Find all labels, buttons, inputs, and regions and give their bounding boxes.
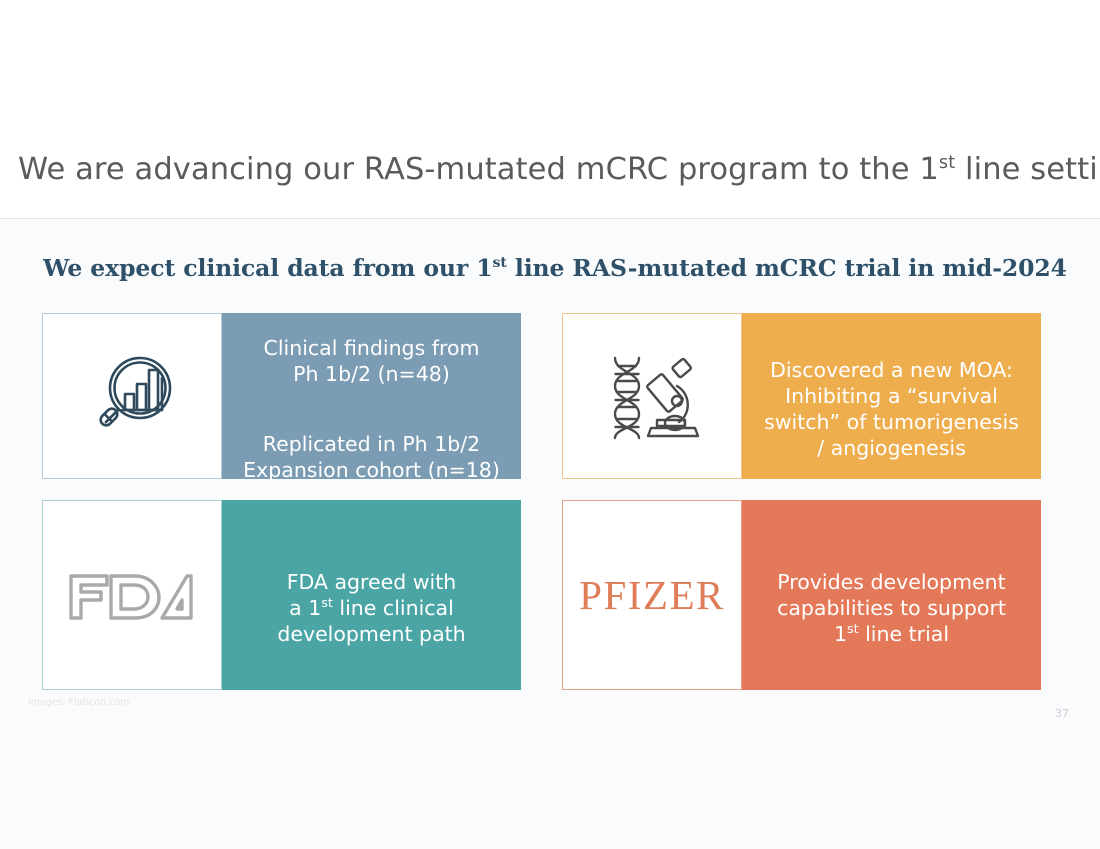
page-title: We are advancing our RAS-mutated mCRC pr…: [18, 152, 1100, 187]
card-pfizer-partnership: PFIZER Provides development capabilities…: [562, 500, 1041, 690]
card-line: Replicated in Ph 1b/2 Expansion cohort (…: [243, 405, 500, 484]
section-subtitle-text: We expect clinical data from our 1: [43, 254, 493, 282]
slide-body: We expect clinical data from our 1st lin…: [0, 219, 1100, 849]
card-line-text: Discovered a new MOA: Inhibiting a “surv…: [764, 358, 1019, 461]
page-title-text-end: line setting: [955, 152, 1100, 187]
card-line-text: Replicated in Ph 1b/2 Expansion cohort (…: [243, 432, 500, 482]
card-fda-agreement: FDA agreed with a 1st line clinical deve…: [42, 500, 521, 690]
card-clinical-findings: Clinical findings from Ph 1b/2 (n=48) Re…: [42, 313, 521, 479]
section-subtitle: We expect clinical data from our 1st lin…: [43, 254, 1063, 282]
dna-microscope-icon: [599, 348, 705, 444]
page-title-superscript: st: [939, 153, 955, 173]
card-line-superscript: st: [847, 621, 859, 636]
card-line-text: Clinical findings from Ph 1b/2 (n=48): [264, 336, 480, 386]
image-credit: images: Flaticon.com: [28, 697, 129, 708]
text-panel-clinical-findings: Clinical findings from Ph 1b/2 (n=48) Re…: [222, 313, 521, 479]
icon-box-new-moa: [562, 313, 742, 479]
page-number: 37: [1055, 707, 1069, 720]
card-line: Provides development capabilities to sup…: [777, 543, 1006, 648]
section-subtitle-text-end: line RAS-mutated mCRC trial in mid-2024: [507, 254, 1067, 282]
card-line: FDA agreed with a 1st line clinical deve…: [277, 543, 465, 648]
fda-logo: [67, 566, 197, 624]
icon-box-fda: [42, 500, 222, 690]
card-line: Discovered a new MOA: Inhibiting a “surv…: [764, 330, 1019, 461]
card-new-moa: Discovered a new MOA: Inhibiting a “surv…: [562, 313, 1041, 479]
text-panel-new-moa: Discovered a new MOA: Inhibiting a “surv…: [742, 313, 1041, 479]
card-line: Clinical findings from Ph 1b/2 (n=48): [264, 308, 480, 387]
text-panel-pfizer: Provides development capabilities to sup…: [742, 500, 1041, 690]
icon-box-clinical-findings: [42, 313, 222, 479]
icon-box-pfizer: PFIZER: [562, 500, 742, 690]
card-line-text-end: line trial: [859, 622, 949, 646]
text-panel-fda: FDA agreed with a 1st line clinical deve…: [222, 500, 521, 690]
section-subtitle-superscript: st: [493, 255, 507, 271]
magnifier-bar-chart-icon: [84, 348, 180, 444]
pfizer-wordmark: PFIZER: [579, 571, 725, 619]
card-line-superscript: st: [321, 595, 333, 610]
page-title-text: We are advancing our RAS-mutated mCRC pr…: [18, 152, 939, 187]
card-grid: Clinical findings from Ph 1b/2 (n=48) Re…: [42, 313, 1044, 690]
slide-header: We are advancing our RAS-mutated mCRC pr…: [0, 0, 1100, 219]
